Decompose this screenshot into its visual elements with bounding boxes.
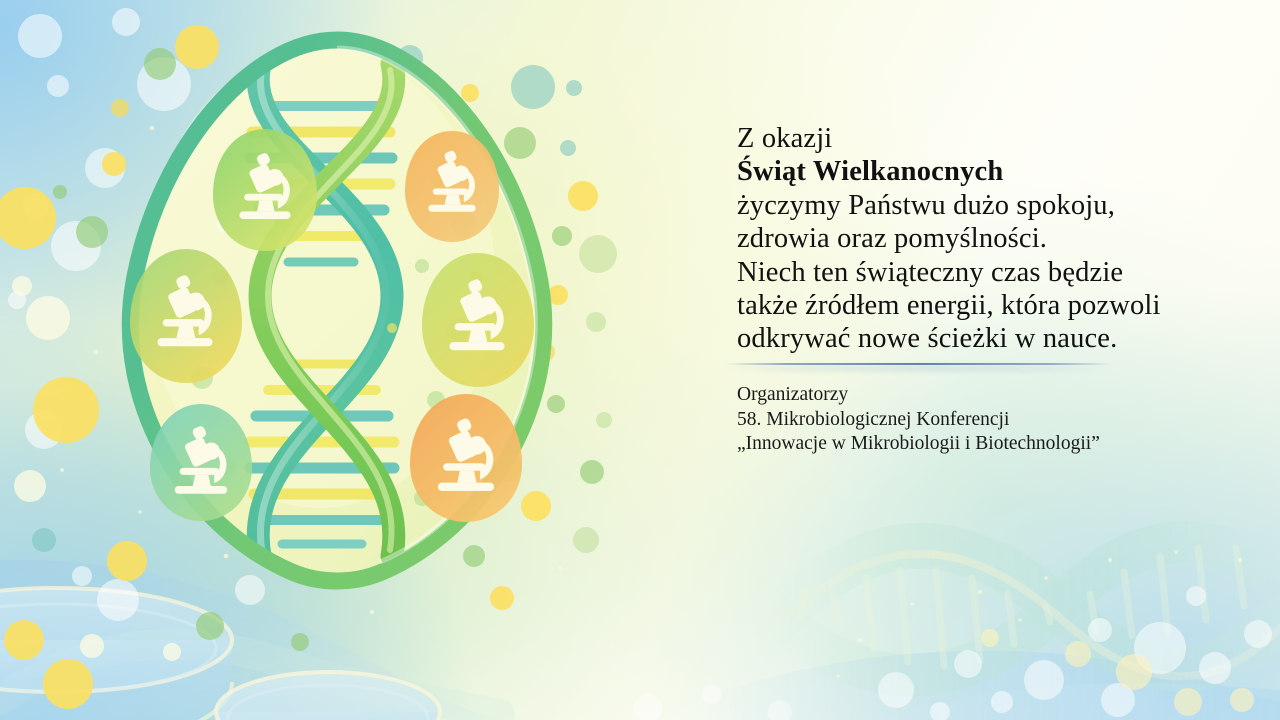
easter-greeting-card: Z okazji Świąt Wielkanocnych życzymy Pań… <box>0 0 1280 720</box>
badge-bottom-right <box>410 394 522 522</box>
greeting-message: Z okazji Świąt Wielkanocnych życzymy Pań… <box>737 122 1207 356</box>
greeting-line-4: zdrowia oraz pomyślności. <box>737 222 1207 255</box>
greeting-line-5: Niech ten świąteczny czas będzie <box>737 256 1207 289</box>
greeting-line-2: Świąt Wielkanocnych <box>737 155 1207 188</box>
greeting-line-1: Z okazji <box>737 122 1207 155</box>
badge-top-right <box>405 131 499 242</box>
organizers-line-1: Organizatorzy <box>737 383 1207 408</box>
greeting-line-3: życzymy Państwu dużo spokoju, <box>737 189 1207 222</box>
easter-egg-illustration <box>92 28 582 620</box>
greeting-line-7: odkrywać nowe ścieżki w nauce. <box>737 322 1207 355</box>
horizontal-divider <box>725 363 1113 365</box>
organizers-block: Organizatorzy 58. Mikrobiologicznej Konf… <box>737 383 1207 457</box>
badge-middle-right <box>422 253 534 387</box>
organizers-line-2: 58. Mikrobiologicznej Konferencji <box>737 408 1207 433</box>
organizers-line-3: „Innowacje w Mikrobiologii i Biotechnolo… <box>737 432 1207 457</box>
badge-top-left <box>213 129 317 251</box>
badge-middle-left <box>130 249 242 383</box>
greeting-line-6: także źródłem energii, która pozwoli <box>737 289 1207 322</box>
greeting-text-block: Z okazji Świąt Wielkanocnych życzymy Pań… <box>737 122 1207 356</box>
petri-dish-right <box>215 672 440 720</box>
